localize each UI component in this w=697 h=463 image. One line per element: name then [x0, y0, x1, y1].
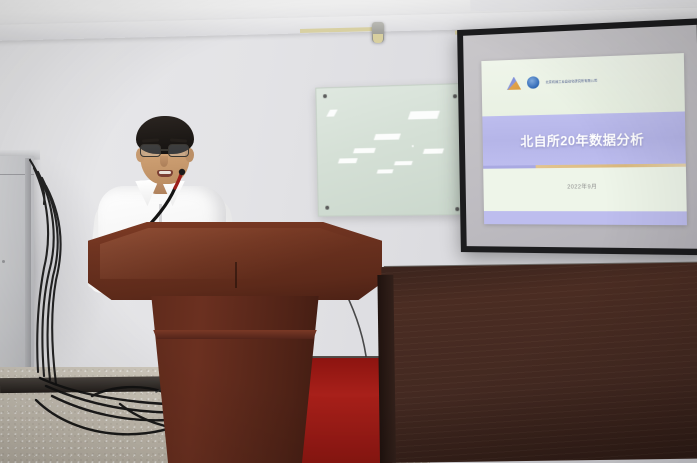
whiteboard-mount-icon: [455, 207, 459, 211]
slide-logo-group: 北京机械工业自动化研究所有限公司: [507, 74, 598, 90]
mouth: [157, 170, 173, 177]
whiteboard-mount-icon: [323, 94, 327, 98]
slide-lower-section: 2022年9月: [483, 167, 687, 212]
slide-header: 北京机械工业自动化研究所有限公司: [481, 53, 685, 116]
presentation-slide: 北京机械工业自动化研究所有限公司 北自所20年数据分析 2022年9月: [481, 53, 687, 225]
slide-title: 北自所20年数据分析: [520, 128, 644, 150]
screen-mat: 北京机械工业自动化研究所有限公司 北自所20年数据分析 2022年9月: [463, 25, 697, 249]
triangle-logo-icon: [507, 76, 521, 90]
glass-whiteboard: [315, 83, 466, 217]
whiteboard-mount-icon: [325, 206, 329, 210]
light-reflection: [374, 134, 401, 141]
whiteboard-mount-icon: [453, 94, 457, 98]
slide-title-band: 北自所20年数据分析: [482, 112, 686, 166]
podium-base-band: [148, 330, 322, 339]
circle-logo-icon: [527, 76, 539, 89]
podium-base: [142, 296, 328, 463]
cabinet-lock-icon: [2, 260, 5, 263]
lens-left: [140, 144, 161, 157]
light-reflection: [394, 161, 413, 165]
lens-right: [168, 144, 189, 157]
nose: [160, 156, 168, 167]
desk-side-panel: [377, 275, 396, 463]
light-reflection: [423, 148, 444, 153]
light-reflection: [377, 169, 394, 173]
conference-room-photo: 北京机械工业自动化研究所有限公司 北自所20年数据分析 2022年9月: [0, 0, 697, 463]
desk-wood-grain: [381, 263, 697, 463]
light-reflection: [338, 158, 358, 163]
cabinet-rail: [25, 158, 31, 388]
slide-footer-bar: [484, 211, 687, 225]
projection-screen: 北京机械工业自动化研究所有限公司 北自所20年数据分析 2022年9月: [457, 18, 697, 255]
light-reflection: [326, 110, 337, 117]
light-speck: [412, 145, 414, 147]
ceiling-light-fixture: [372, 22, 384, 42]
slide-date: 2022年9月: [483, 182, 686, 191]
light-reflection: [408, 111, 440, 120]
light-reflection: [353, 148, 376, 153]
glasses-bridge: [161, 149, 169, 151]
slide-org-name: 北京机械工业自动化研究所有限公司: [546, 78, 598, 84]
